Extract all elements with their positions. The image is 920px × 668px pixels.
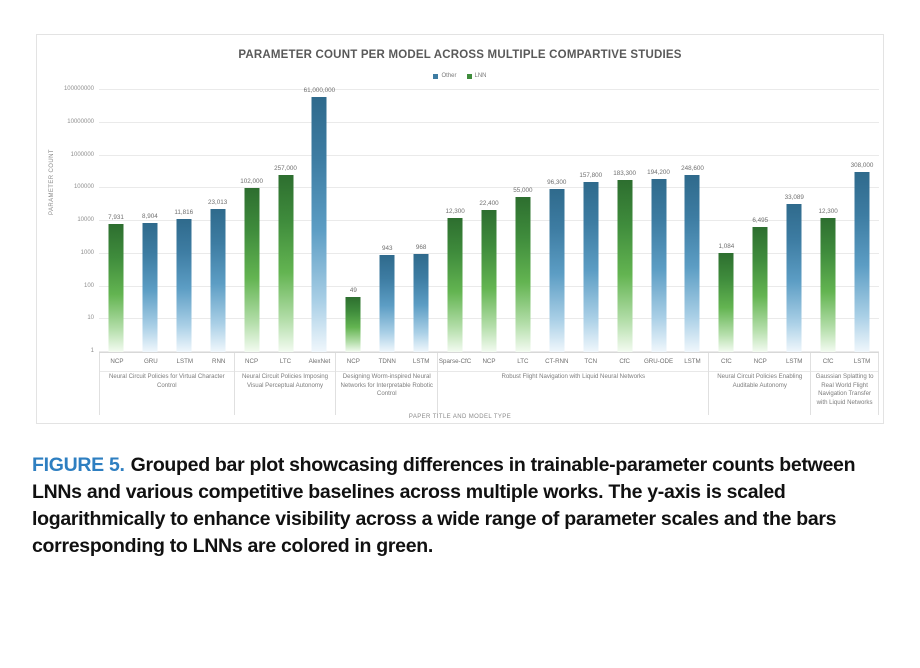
- bars-layer: 7,9318,90411,81623,013102,000257,00061,0…: [99, 90, 879, 352]
- x-axis-model-label: LTC: [517, 358, 528, 365]
- bar-value-label: 23,013: [208, 199, 227, 206]
- y-axis-tick-label: 1: [91, 348, 94, 354]
- bar-slot: 55,000: [506, 90, 540, 352]
- bar-value-label: 183,300: [613, 170, 636, 177]
- category-model-row: NCPTDNNLSTM: [336, 353, 437, 372]
- x-axis-paper-label: Designing Worm-inspired Neural Networks …: [338, 373, 435, 399]
- bar-slot: 8,904: [133, 90, 167, 352]
- x-axis-paper-label: Neural Circuit Policies Imposing Visual …: [237, 373, 334, 390]
- bar-value-label: 8,904: [142, 213, 158, 220]
- x-axis-model-label: LSTM: [854, 358, 871, 365]
- bar-value-label: 55,000: [513, 187, 532, 194]
- x-axis-model-label: AlexNet: [309, 358, 331, 365]
- category-group: Sparse-CfCNCPLTCCT-RNNTCNCfCGRU-ODELSTMR…: [438, 353, 709, 415]
- x-axis-model-label: NCP: [110, 358, 123, 365]
- y-axis-tick-label: 100: [84, 283, 94, 289]
- x-axis-model-label: LSTM: [786, 358, 803, 365]
- bar-slot: 49: [336, 90, 370, 352]
- figure-caption-text: Grouped bar plot showcasing differences …: [32, 454, 855, 557]
- y-axis-tick-label: 1000: [81, 250, 94, 256]
- category-model-row: Sparse-CfCNCPLTCCT-RNNTCNCfCGRU-ODELSTM: [438, 353, 708, 372]
- category-group: CfCNCPLSTMNeural Circuit Policies Enabli…: [709, 353, 811, 415]
- bar-sparse-cfc[interactable]: [448, 218, 463, 352]
- bar-value-label: 33,089: [785, 194, 804, 201]
- y-axis-tick-label: 1000000: [71, 152, 94, 158]
- x-axis-paper-label: Gaussian Splatting to Real World Flight …: [813, 373, 876, 407]
- bar-slot: 943: [370, 90, 404, 352]
- bar-lstm[interactable]: [414, 254, 429, 352]
- y-axis-tick-label: 10000: [77, 217, 94, 223]
- bar-ct-rnn[interactable]: [549, 189, 564, 352]
- bar-slot: 12,300: [438, 90, 472, 352]
- bar-slot: 11,816: [167, 90, 201, 352]
- bar-value-label: 12,300: [445, 208, 464, 215]
- category-model-row: NCPGRULSTMRNN: [100, 353, 234, 372]
- bar-slot: 96,300: [540, 90, 574, 352]
- x-axis-model-label: TDNN: [379, 358, 396, 365]
- x-axis-model-label: GRU-ODE: [644, 358, 673, 365]
- x-axis-model-label: NCP: [245, 358, 258, 365]
- x-axis-title: PAPER TITLE AND MODEL TYPE: [37, 414, 883, 420]
- bar-value-label: 1,084: [718, 243, 734, 250]
- bar-gru[interactable]: [142, 223, 157, 352]
- bar-cfc[interactable]: [617, 180, 632, 352]
- x-axis-model-label: CfC: [823, 358, 834, 365]
- bar-value-label: 11,816: [174, 209, 193, 216]
- category-group: NCPGRULSTMRNNNeural Circuit Policies for…: [99, 353, 235, 415]
- bar-value-label: 61,000,000: [304, 87, 336, 94]
- bar-slot: 183,300: [608, 90, 642, 352]
- x-axis-model-label: RNN: [212, 358, 225, 365]
- bar-slot: 157,800: [574, 90, 608, 352]
- category-model-row: NCPLTCAlexNet: [235, 353, 336, 372]
- bar-slot: 6,495: [743, 90, 777, 352]
- bar-lstm[interactable]: [685, 175, 700, 352]
- x-axis-paper-label: Neural Circuit Policies for Virtual Char…: [102, 373, 232, 390]
- figure-caption: FIGURE 5.Grouped bar plot showcasing dif…: [32, 452, 888, 560]
- figure-chart-panel: PARAMETER COUNT PER MODEL ACROSS MULTIPL…: [36, 34, 884, 424]
- bar-value-label: 12,300: [818, 208, 837, 215]
- x-axis-model-label: CfC: [619, 358, 630, 365]
- bar-ncp[interactable]: [244, 188, 259, 352]
- y-axis-tick-label: 10: [87, 315, 94, 321]
- bar-value-label: 6,495: [752, 217, 768, 224]
- bar-value-label: 968: [416, 244, 427, 251]
- bar-value-label: 49: [350, 287, 357, 294]
- category-model-row: CfCLSTM: [811, 353, 878, 372]
- bar-slot: 194,200: [642, 90, 676, 352]
- bar-ncp[interactable]: [481, 210, 496, 352]
- bar-cfc[interactable]: [821, 218, 836, 352]
- bar-lstm[interactable]: [855, 172, 870, 352]
- x-axis-model-label: NCP: [347, 358, 360, 365]
- bar-ncp[interactable]: [108, 224, 123, 352]
- x-axis-paper-label: Neural Circuit Policies Enabling Auditab…: [711, 373, 808, 390]
- y-axis-tick-label: 10000000: [67, 119, 94, 125]
- x-axis-model-label: LSTM: [684, 358, 701, 365]
- category-group: NCPLTCAlexNetNeural Circuit Policies Imp…: [235, 353, 337, 415]
- bar-tcn[interactable]: [583, 182, 598, 352]
- bar-slot: 248,600: [676, 90, 710, 352]
- x-axis-model-label: LSTM: [413, 358, 430, 365]
- plot-area: 1000000001000000010000001000001000010001…: [99, 90, 879, 352]
- bar-ncp[interactable]: [346, 297, 361, 352]
- bar-slot: 257,000: [269, 90, 303, 352]
- bar-value-label: 157,800: [579, 172, 602, 179]
- x-axis-model-label: GRU: [144, 358, 158, 365]
- plot-wrapper: PARAMETER COUNT 100000000100000001000000…: [37, 35, 883, 423]
- bar-slot: 308,000: [845, 90, 879, 352]
- bar-cfc[interactable]: [719, 253, 734, 352]
- bar-lstm[interactable]: [787, 204, 802, 352]
- x-axis-model-label: LSTM: [177, 358, 194, 365]
- bar-value-label: 943: [382, 245, 393, 252]
- bar-value-label: 194,200: [647, 169, 670, 176]
- bar-value-label: 308,000: [851, 162, 874, 169]
- bar-slot: 61,000,000: [302, 90, 336, 352]
- bar-slot: 968: [404, 90, 438, 352]
- bar-value-label: 22,400: [479, 200, 498, 207]
- x-axis-paper-label: Robust Flight Navigation with Liquid Neu…: [440, 373, 706, 382]
- category-axis: NCPGRULSTMRNNNeural Circuit Policies for…: [99, 352, 879, 415]
- bar-slot: 23,013: [201, 90, 235, 352]
- bar-slot: 33,089: [777, 90, 811, 352]
- bar-lstm[interactable]: [176, 219, 191, 352]
- figure-caption-tag: FIGURE 5.: [32, 454, 125, 476]
- bar-ncp[interactable]: [753, 227, 768, 352]
- bar-value-label: 248,600: [681, 165, 704, 172]
- bar-gru-ode[interactable]: [651, 179, 666, 352]
- bar-ltc[interactable]: [278, 175, 293, 352]
- bar-value-label: 102,000: [240, 178, 263, 185]
- bar-alexnet[interactable]: [312, 97, 327, 352]
- x-axis-model-label: NCP: [754, 358, 767, 365]
- bar-value-label: 257,000: [274, 165, 297, 172]
- bar-slot: 1,084: [709, 90, 743, 352]
- bar-value-label: 7,931: [108, 214, 124, 221]
- x-axis-model-label: TCN: [584, 358, 597, 365]
- y-axis-title: PARAMETER COUNT: [49, 149, 55, 215]
- bar-rnn[interactable]: [210, 209, 225, 352]
- y-axis-tick-label: 100000: [74, 184, 94, 190]
- bar-slot: 102,000: [235, 90, 269, 352]
- x-axis-model-label: CfC: [721, 358, 732, 365]
- bar-slot: 22,400: [472, 90, 506, 352]
- category-model-row: CfCNCPLSTM: [709, 353, 810, 372]
- x-axis-model-label: Sparse-CfC: [439, 358, 471, 365]
- y-axis-tick-label: 100000000: [64, 86, 94, 92]
- category-group: NCPTDNNLSTMDesigning Worm-inspired Neura…: [336, 353, 438, 415]
- bar-value-label: 96,300: [547, 179, 566, 186]
- x-axis-model-label: NCP: [482, 358, 495, 365]
- category-group: CfCLSTMGaussian Splatting to Real World …: [811, 353, 879, 415]
- bar-ltc[interactable]: [515, 197, 530, 352]
- x-axis-model-label: LTC: [280, 358, 291, 365]
- bar-slot: 12,300: [811, 90, 845, 352]
- bar-tdnn[interactable]: [380, 255, 395, 352]
- x-axis-model-label: CT-RNN: [545, 358, 568, 365]
- bar-slot: 7,931: [99, 90, 133, 352]
